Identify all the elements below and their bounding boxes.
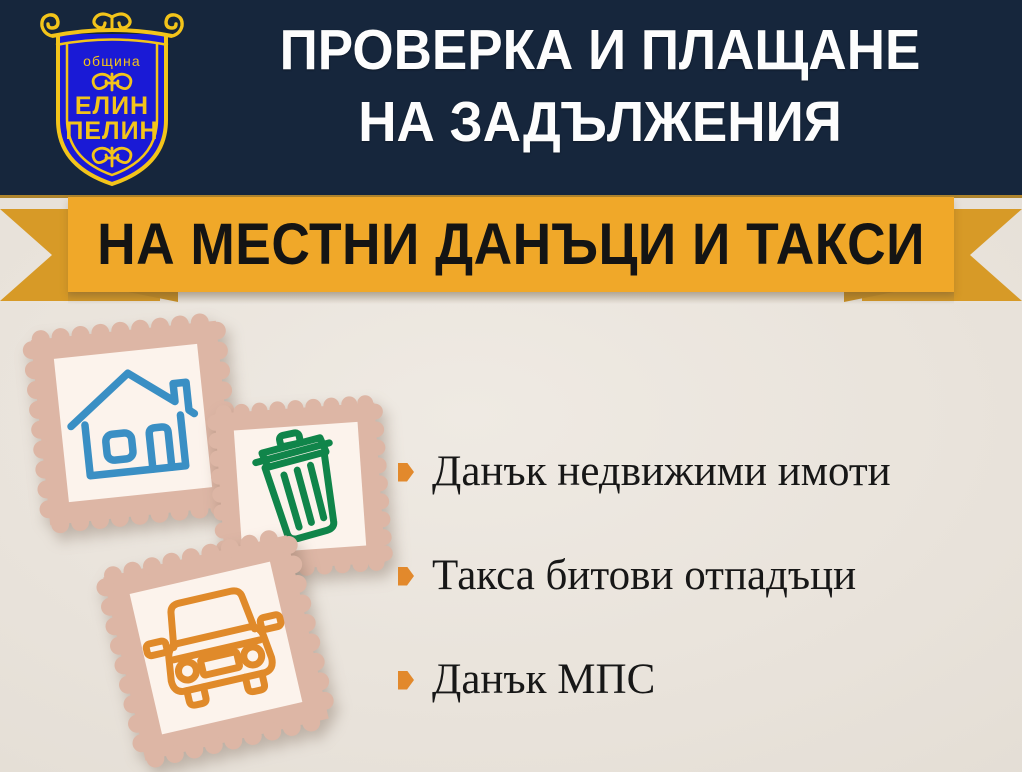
coat-of-arms-icon: община ЕЛИН ПЕЛИН bbox=[36, 8, 188, 190]
svg-text:ПЕЛИН: ПЕЛИН bbox=[65, 117, 158, 145]
ribbon-drop-shadow bbox=[68, 292, 954, 304]
svg-text:община: община bbox=[83, 53, 141, 69]
ribbon-face: НА МЕСТНИ ДАНЪЦИ И ТАКСИ bbox=[68, 197, 954, 292]
municipality-logo: община ЕЛИН ПЕЛИН bbox=[36, 8, 188, 190]
svg-text:ЕЛИН: ЕЛИН bbox=[75, 92, 149, 120]
list-item-label: Такса битови отпадъци bbox=[432, 552, 856, 600]
list-item-label: Данък МПС bbox=[432, 656, 655, 704]
arrow-bullet-icon bbox=[398, 463, 414, 482]
arrow-bullet-icon bbox=[398, 567, 414, 586]
page-title: ПРОВЕРКА И ПЛАЩАНЕ НА ЗАДЪЛЖЕНИЯ bbox=[219, 14, 982, 158]
poster-canvas: ПРОВЕРКА И ПЛАЩАНЕ НА ЗАДЪЛЖЕНИЯ о bbox=[0, 0, 1022, 772]
list-item-label: Данък недвижими имоти bbox=[432, 448, 891, 496]
service-list: Данък недвижими имоти Такса битови отпад… bbox=[398, 420, 1014, 732]
list-item[interactable]: Такса битови отпадъци bbox=[398, 524, 1014, 628]
ribbon-label: НА МЕСТНИ ДАНЪЦИ И ТАКСИ bbox=[103, 197, 918, 292]
list-item[interactable]: Данък недвижими имоти bbox=[398, 420, 1014, 524]
ribbon-banner: НА МЕСТНИ ДАНЪЦИ И ТАКСИ bbox=[0, 197, 1022, 307]
stamp-card-vehicle-tax bbox=[96, 528, 336, 768]
arrow-bullet-icon bbox=[398, 671, 414, 690]
list-item[interactable]: Данък МПС bbox=[398, 628, 1014, 732]
